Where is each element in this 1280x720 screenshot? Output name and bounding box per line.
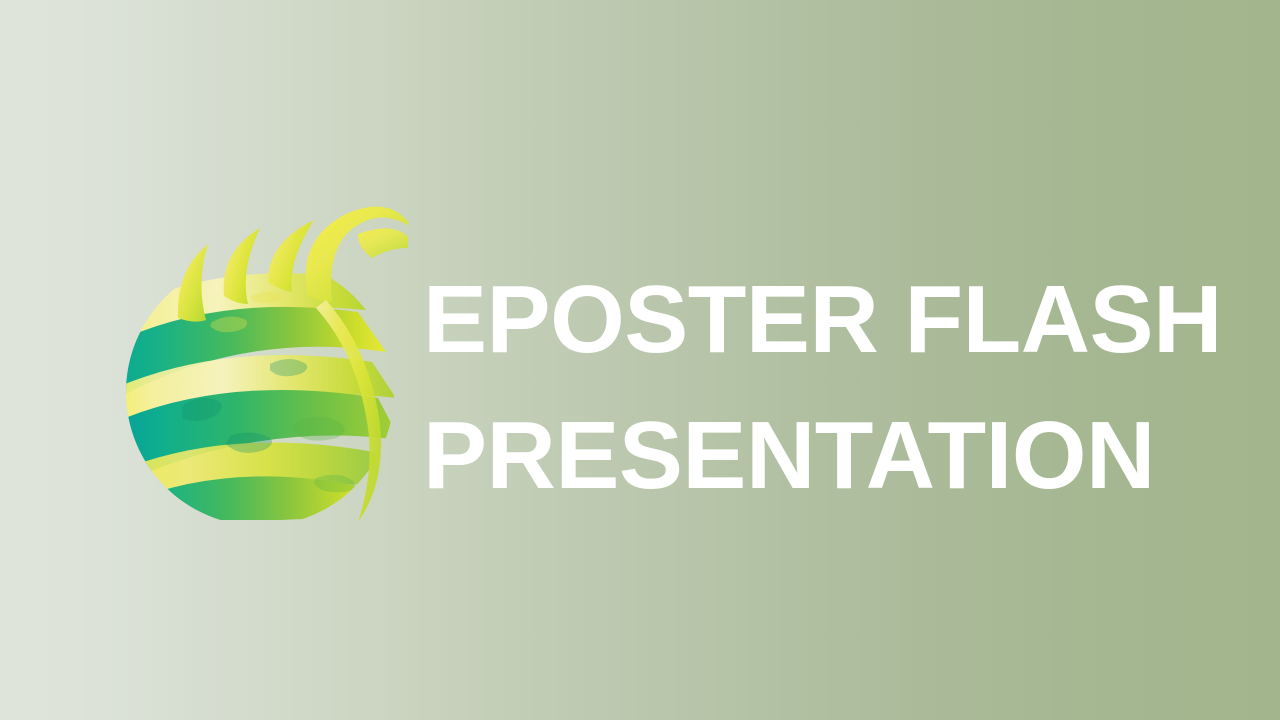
slide-title: EPOSTER FLASH PRESENTATION bbox=[423, 252, 1223, 524]
title-line-1: EPOSTER FLASH bbox=[423, 252, 1223, 388]
leaf-swirl-outer bbox=[306, 207, 408, 302]
globe-ribbon-logo bbox=[120, 200, 408, 520]
presentation-slide: EPOSTER FLASH PRESENTATION bbox=[0, 0, 1280, 720]
leaf-swirl-inner bbox=[358, 228, 408, 258]
title-line-2: PRESENTATION bbox=[423, 388, 1223, 524]
globe-ribbon-bands bbox=[120, 273, 400, 520]
